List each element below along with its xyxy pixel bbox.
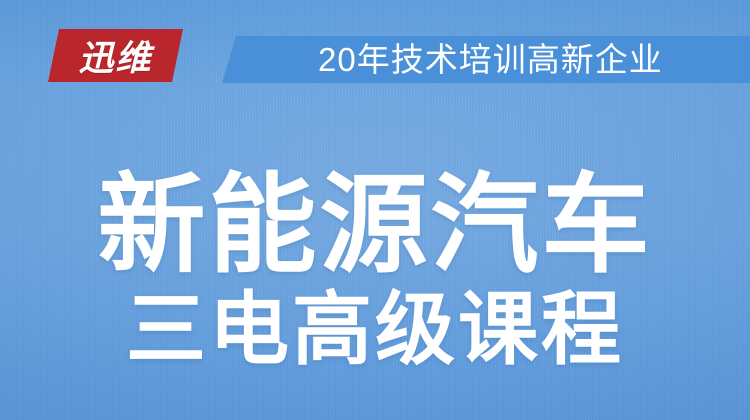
poster-headline: 新能源汽车: [0, 168, 750, 282]
poster-subheadline: 三电高级课程: [0, 288, 750, 372]
brand-logo-text: 迅维: [48, 29, 183, 82]
tagline-banner-text: 20年技术培训高新企业: [318, 36, 663, 83]
promo-poster: 20年技术培训高新企业 迅维 新能源汽车 三电高级课程: [0, 0, 750, 420]
